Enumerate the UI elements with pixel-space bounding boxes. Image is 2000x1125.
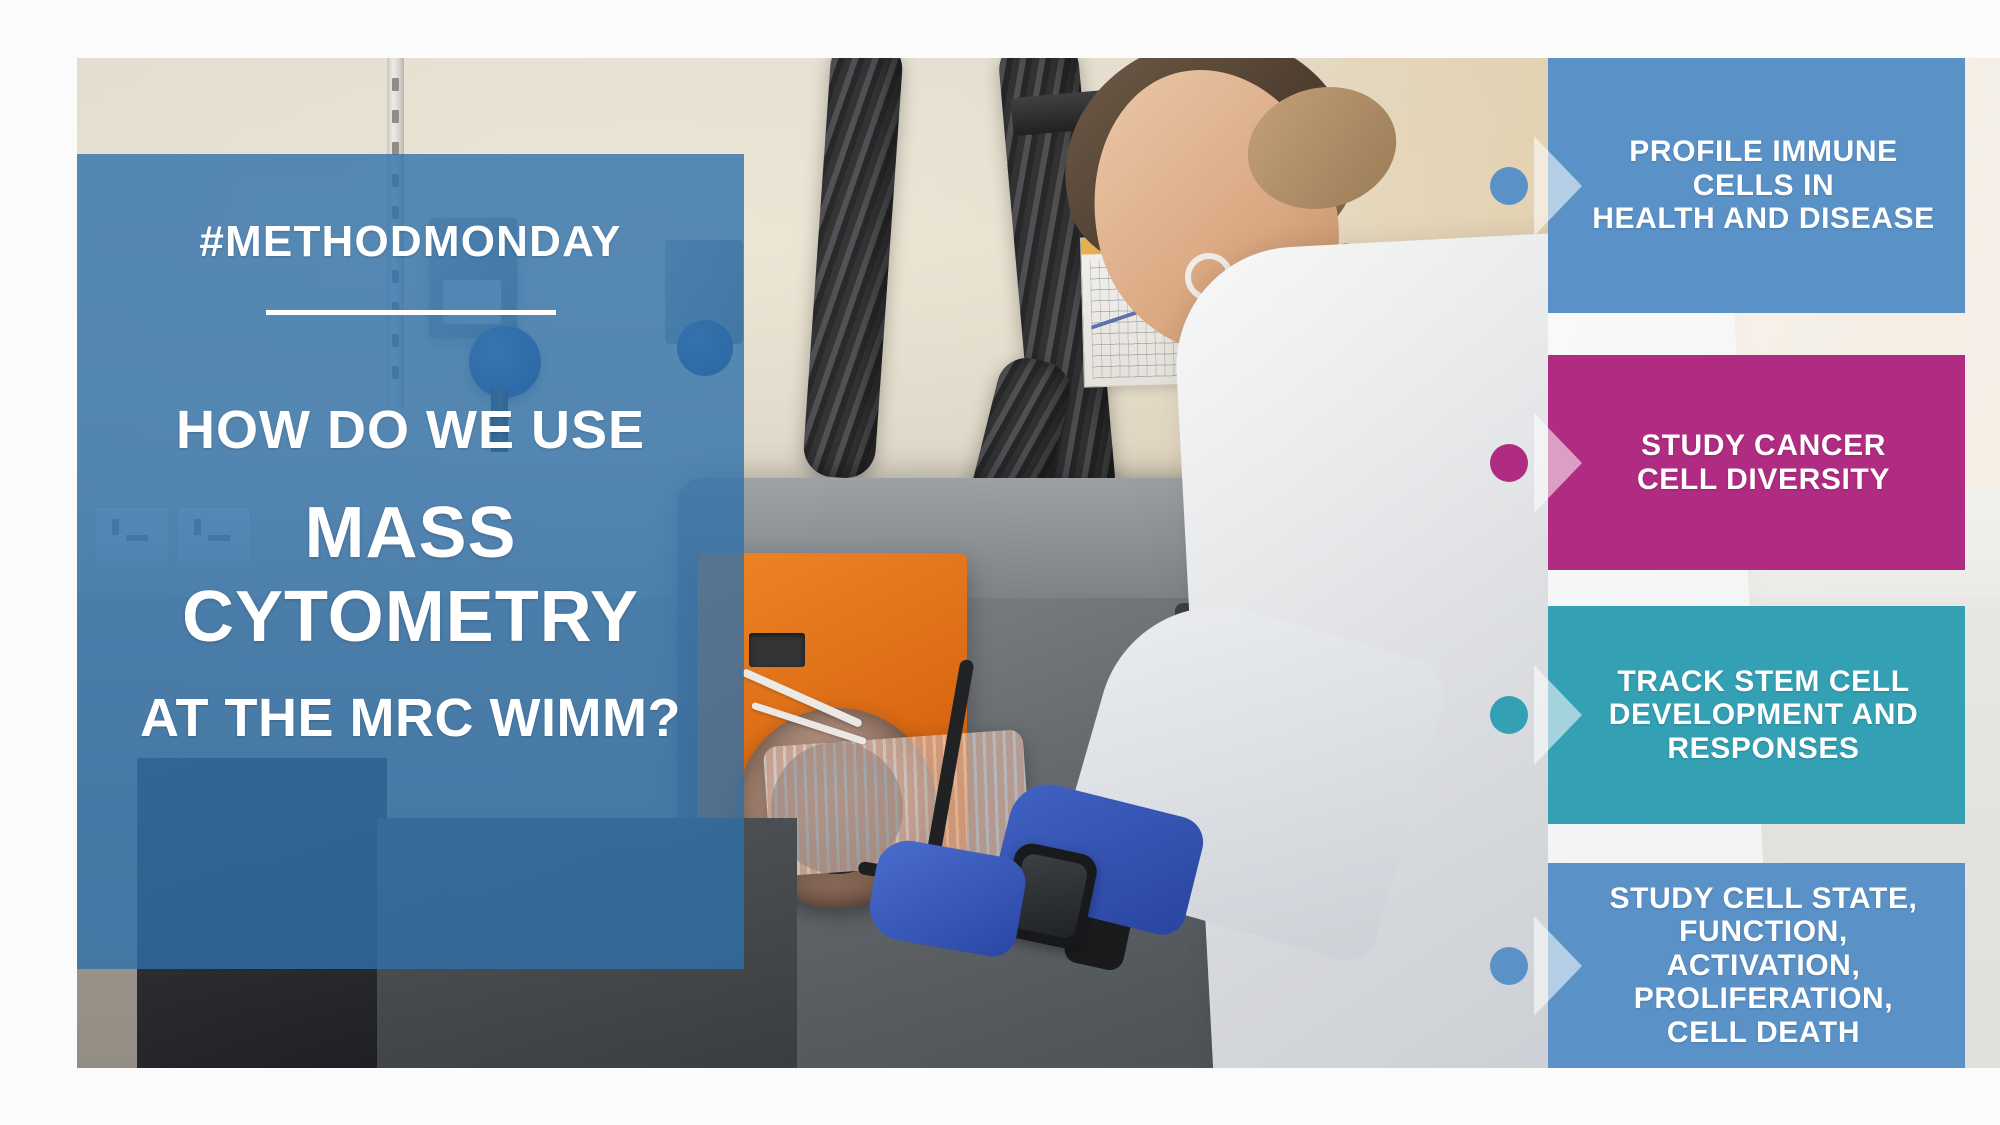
callout-dot-icon-4 <box>1490 947 1528 985</box>
callout-arrow-icon-4 <box>1534 916 1582 1016</box>
callout-3-line-2: DEVELOPMENT AND <box>1609 698 1919 732</box>
callout-arrow-icon-2 <box>1534 413 1582 513</box>
callout-1-line-1: PROFILE IMMUNE <box>1592 135 1935 169</box>
callout-study-cell-state[interactable]: STUDY CELL STATE, FUNCTION, ACTIVATION, … <box>1548 863 1965 1068</box>
callout-dot-icon-2 <box>1490 444 1528 482</box>
callout-1-line-2: CELLS IN <box>1592 169 1935 203</box>
callout-4-line-3: ACTIVATION, <box>1609 949 1917 983</box>
callout-1-line-3: HEALTH AND DISEASE <box>1592 202 1935 236</box>
headline-line-1: HOW DO WE USE <box>176 403 645 457</box>
headline-emphasis-2: CYTOMETRY <box>182 579 639 657</box>
callout-marker-4 <box>1490 916 1600 1016</box>
callout-profile-immune-cells[interactable]: PROFILE IMMUNE CELLS IN HEALTH AND DISEA… <box>1548 58 1965 313</box>
callout-text-4: STUDY CELL STATE, FUNCTION, ACTIVATION, … <box>1609 882 1917 1050</box>
callout-4-line-2: FUNCTION, <box>1609 915 1917 949</box>
callout-2-line-1: STUDY CANCER <box>1637 429 1890 463</box>
callout-arrow-icon-1 <box>1534 136 1582 236</box>
headline-overlay: #METHODMONDAY HOW DO WE USE MASS CYTOMET… <box>77 154 744 969</box>
callout-study-cancer-cell-diversity[interactable]: STUDY CANCER CELL DIVERSITY <box>1548 355 1965 570</box>
callout-marker-3 <box>1490 665 1600 765</box>
callout-dot-icon-1 <box>1490 167 1528 205</box>
headline-line-3: AT THE MRC WIMM? <box>140 691 681 745</box>
callout-2-line-2: CELL DIVERSITY <box>1637 463 1890 497</box>
callout-text-2: STUDY CANCER CELL DIVERSITY <box>1637 429 1890 496</box>
headline-emphasis-1: MASS <box>304 495 516 573</box>
callout-dot-icon-3 <box>1490 696 1528 734</box>
callout-marker-2 <box>1490 413 1600 513</box>
callout-text-3: TRACK STEM CELL DEVELOPMENT AND RESPONSE… <box>1609 665 1919 766</box>
callout-arrow-icon-3 <box>1534 665 1582 765</box>
callout-marker-1 <box>1490 136 1600 236</box>
callout-3-line-1: TRACK STEM CELL <box>1609 665 1919 699</box>
callout-3-line-3: RESPONSES <box>1609 732 1919 766</box>
callout-track-stem-cell-development[interactable]: TRACK STEM CELL DEVELOPMENT AND RESPONSE… <box>1548 606 1965 824</box>
callout-4-line-5: CELL DEATH <box>1609 1016 1917 1050</box>
callout-4-line-4: PROLIFERATION, <box>1609 982 1917 1016</box>
photo-cytometer-slot <box>749 633 805 667</box>
callout-column: PROFILE IMMUNE CELLS IN HEALTH AND DISEA… <box>1548 58 2000 1068</box>
callout-text-1: PROFILE IMMUNE CELLS IN HEALTH AND DISEA… <box>1592 135 1935 236</box>
slide-canvas: #METHODMONDAY HOW DO WE USE MASS CYTOMET… <box>0 0 2000 1125</box>
headline-divider <box>266 310 556 315</box>
callout-4-line-1: STUDY CELL STATE, <box>1609 882 1917 916</box>
hashtag-label: #METHODMONDAY <box>199 220 621 264</box>
